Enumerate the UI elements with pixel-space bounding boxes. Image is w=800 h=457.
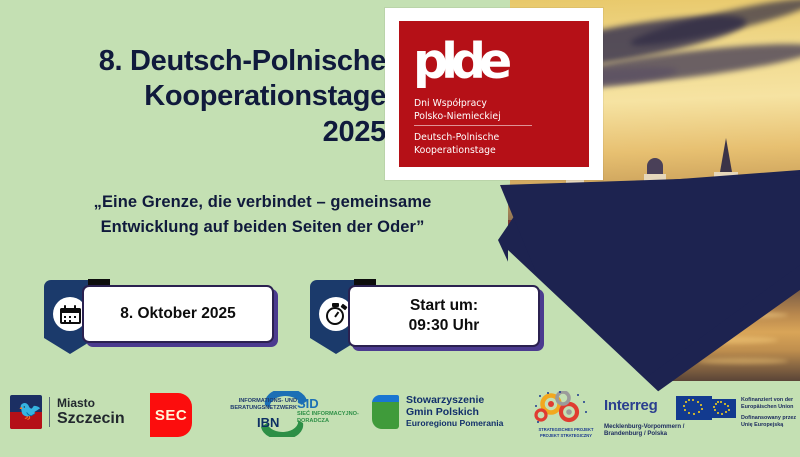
- logo-ibn-sid: INFORMATIONS- UND BERATUNGSNETZWERK IBN …: [205, 391, 355, 437]
- divider: [49, 397, 50, 427]
- time-card: Start um: 09:30 Uhr: [348, 285, 540, 347]
- logo-pomerania: Stowarzyszenie Gmin Polskich Euroregionu…: [372, 395, 503, 429]
- logo-sec: SEC: [150, 393, 192, 437]
- logo-miasto-szczecin: 🐦 Miasto Szczecin: [10, 395, 125, 429]
- szczecin-line-2: Szczecin: [57, 410, 125, 427]
- cofunded-polish-line-1: Dofinansowany przez: [741, 415, 796, 421]
- plde-polish-line-2: Polsko-Niemieckiej: [414, 110, 501, 123]
- interreg-wordmark: Interreg: [604, 397, 657, 414]
- logo-cofunded-eu: Kofinanziert von der Europäischen Union …: [708, 395, 800, 435]
- time-badge: Start um: 09:30 Uhr: [310, 280, 540, 358]
- divider: [414, 125, 532, 126]
- date-text: 8. Oktober 2025: [120, 304, 235, 324]
- title-line-2: Kooperationstage: [8, 79, 386, 114]
- partner-logo-strip: 🐦 Miasto Szczecin SEC INFORMATIONS-: [0, 377, 800, 457]
- motto-line-1: „Eine Grenze, die verbindet – gemeinsame: [10, 190, 515, 215]
- plde-logo: plde Dni Współpracy Polsko-Niemieckiej D…: [385, 8, 603, 180]
- griffin-crest-icon: 🐦: [10, 395, 42, 429]
- cofunded-german-line-2: Europäischen Union: [741, 404, 793, 410]
- eu-flag-icon: [676, 396, 712, 420]
- ibn-abbr: IBN: [257, 415, 279, 430]
- szczecin-line-1: Miasto: [57, 397, 125, 410]
- gears-icon: STRATEGISCHES PROJEKT PROJEKT STRATEGICZ…: [533, 391, 599, 437]
- plde-polish-line-1: Dni Współpracy: [414, 97, 501, 110]
- event-motto: „Eine Grenze, die verbindet – gemeinsame…: [10, 190, 515, 240]
- plde-german-line-1: Deutsch-Polnische: [414, 131, 499, 144]
- date-badge: 8. Oktober 2025: [44, 280, 274, 358]
- sec-label: SEC: [155, 407, 187, 424]
- plde-logo-polish: Dni Współpracy Polsko-Niemieckiej: [414, 97, 501, 123]
- ibn-german-line-2: BERATUNGSNETZWERK: [205, 405, 297, 412]
- title-line-1: 8. Deutsch-Polnische: [8, 44, 386, 79]
- date-card: 8. Oktober 2025: [82, 285, 274, 343]
- motto-line-2: Entwicklung auf beiden Seiten der Oder”: [10, 215, 515, 240]
- sid-polish-line-1: SIEĆ INFORMACYJNO-: [297, 411, 367, 418]
- leaf-icon: [372, 395, 399, 429]
- plde-wordmark: plde: [413, 37, 505, 86]
- strategic-german: STRATEGISCHES PROJEKT: [533, 427, 599, 433]
- sid-abbr: SID: [297, 396, 319, 411]
- plde-logo-german: Deutsch-Polnische Kooperationstage: [414, 131, 499, 157]
- plde-german-line-2: Kooperationstage: [414, 144, 499, 157]
- title-year: 2025: [8, 115, 386, 150]
- interreg-regions: Mecklenburg-Vorpommern / Brandenburg / P…: [604, 423, 716, 437]
- time-value: 09:30 Uhr: [409, 316, 480, 336]
- sid-polish-line-2: DORADCZA: [297, 418, 367, 425]
- strategic-polish: PROJEKT STRATEGICZNY: [533, 433, 599, 439]
- cofunded-german-line-1: Kofinanziert von der: [741, 397, 793, 403]
- logo-interreg: Interreg Mecklenburg-Vorpommern / Brande…: [604, 391, 716, 437]
- time-label: Start um:: [410, 296, 478, 316]
- page-title: 8. Deutsch-Polnische Kooperationstage 20…: [8, 44, 386, 150]
- pomerania-line-3: Euroregionu Pomerania: [406, 419, 503, 429]
- logo-strategic-project: STRATEGISCHES PROJEKT PROJEKT STRATEGICZ…: [533, 391, 599, 437]
- ibn-german-line-1: INFORMATIONS- UND: [205, 398, 297, 405]
- event-banner: 8. Deutsch-Polnische Kooperationstage 20…: [0, 0, 800, 457]
- plde-logo-red-field: plde Dni Współpracy Polsko-Niemieckiej D…: [399, 21, 589, 167]
- eu-flag-icon: [708, 399, 736, 418]
- sec-mark: SEC: [150, 393, 192, 437]
- cofunded-polish-line-2: Unię Europejską: [741, 422, 783, 428]
